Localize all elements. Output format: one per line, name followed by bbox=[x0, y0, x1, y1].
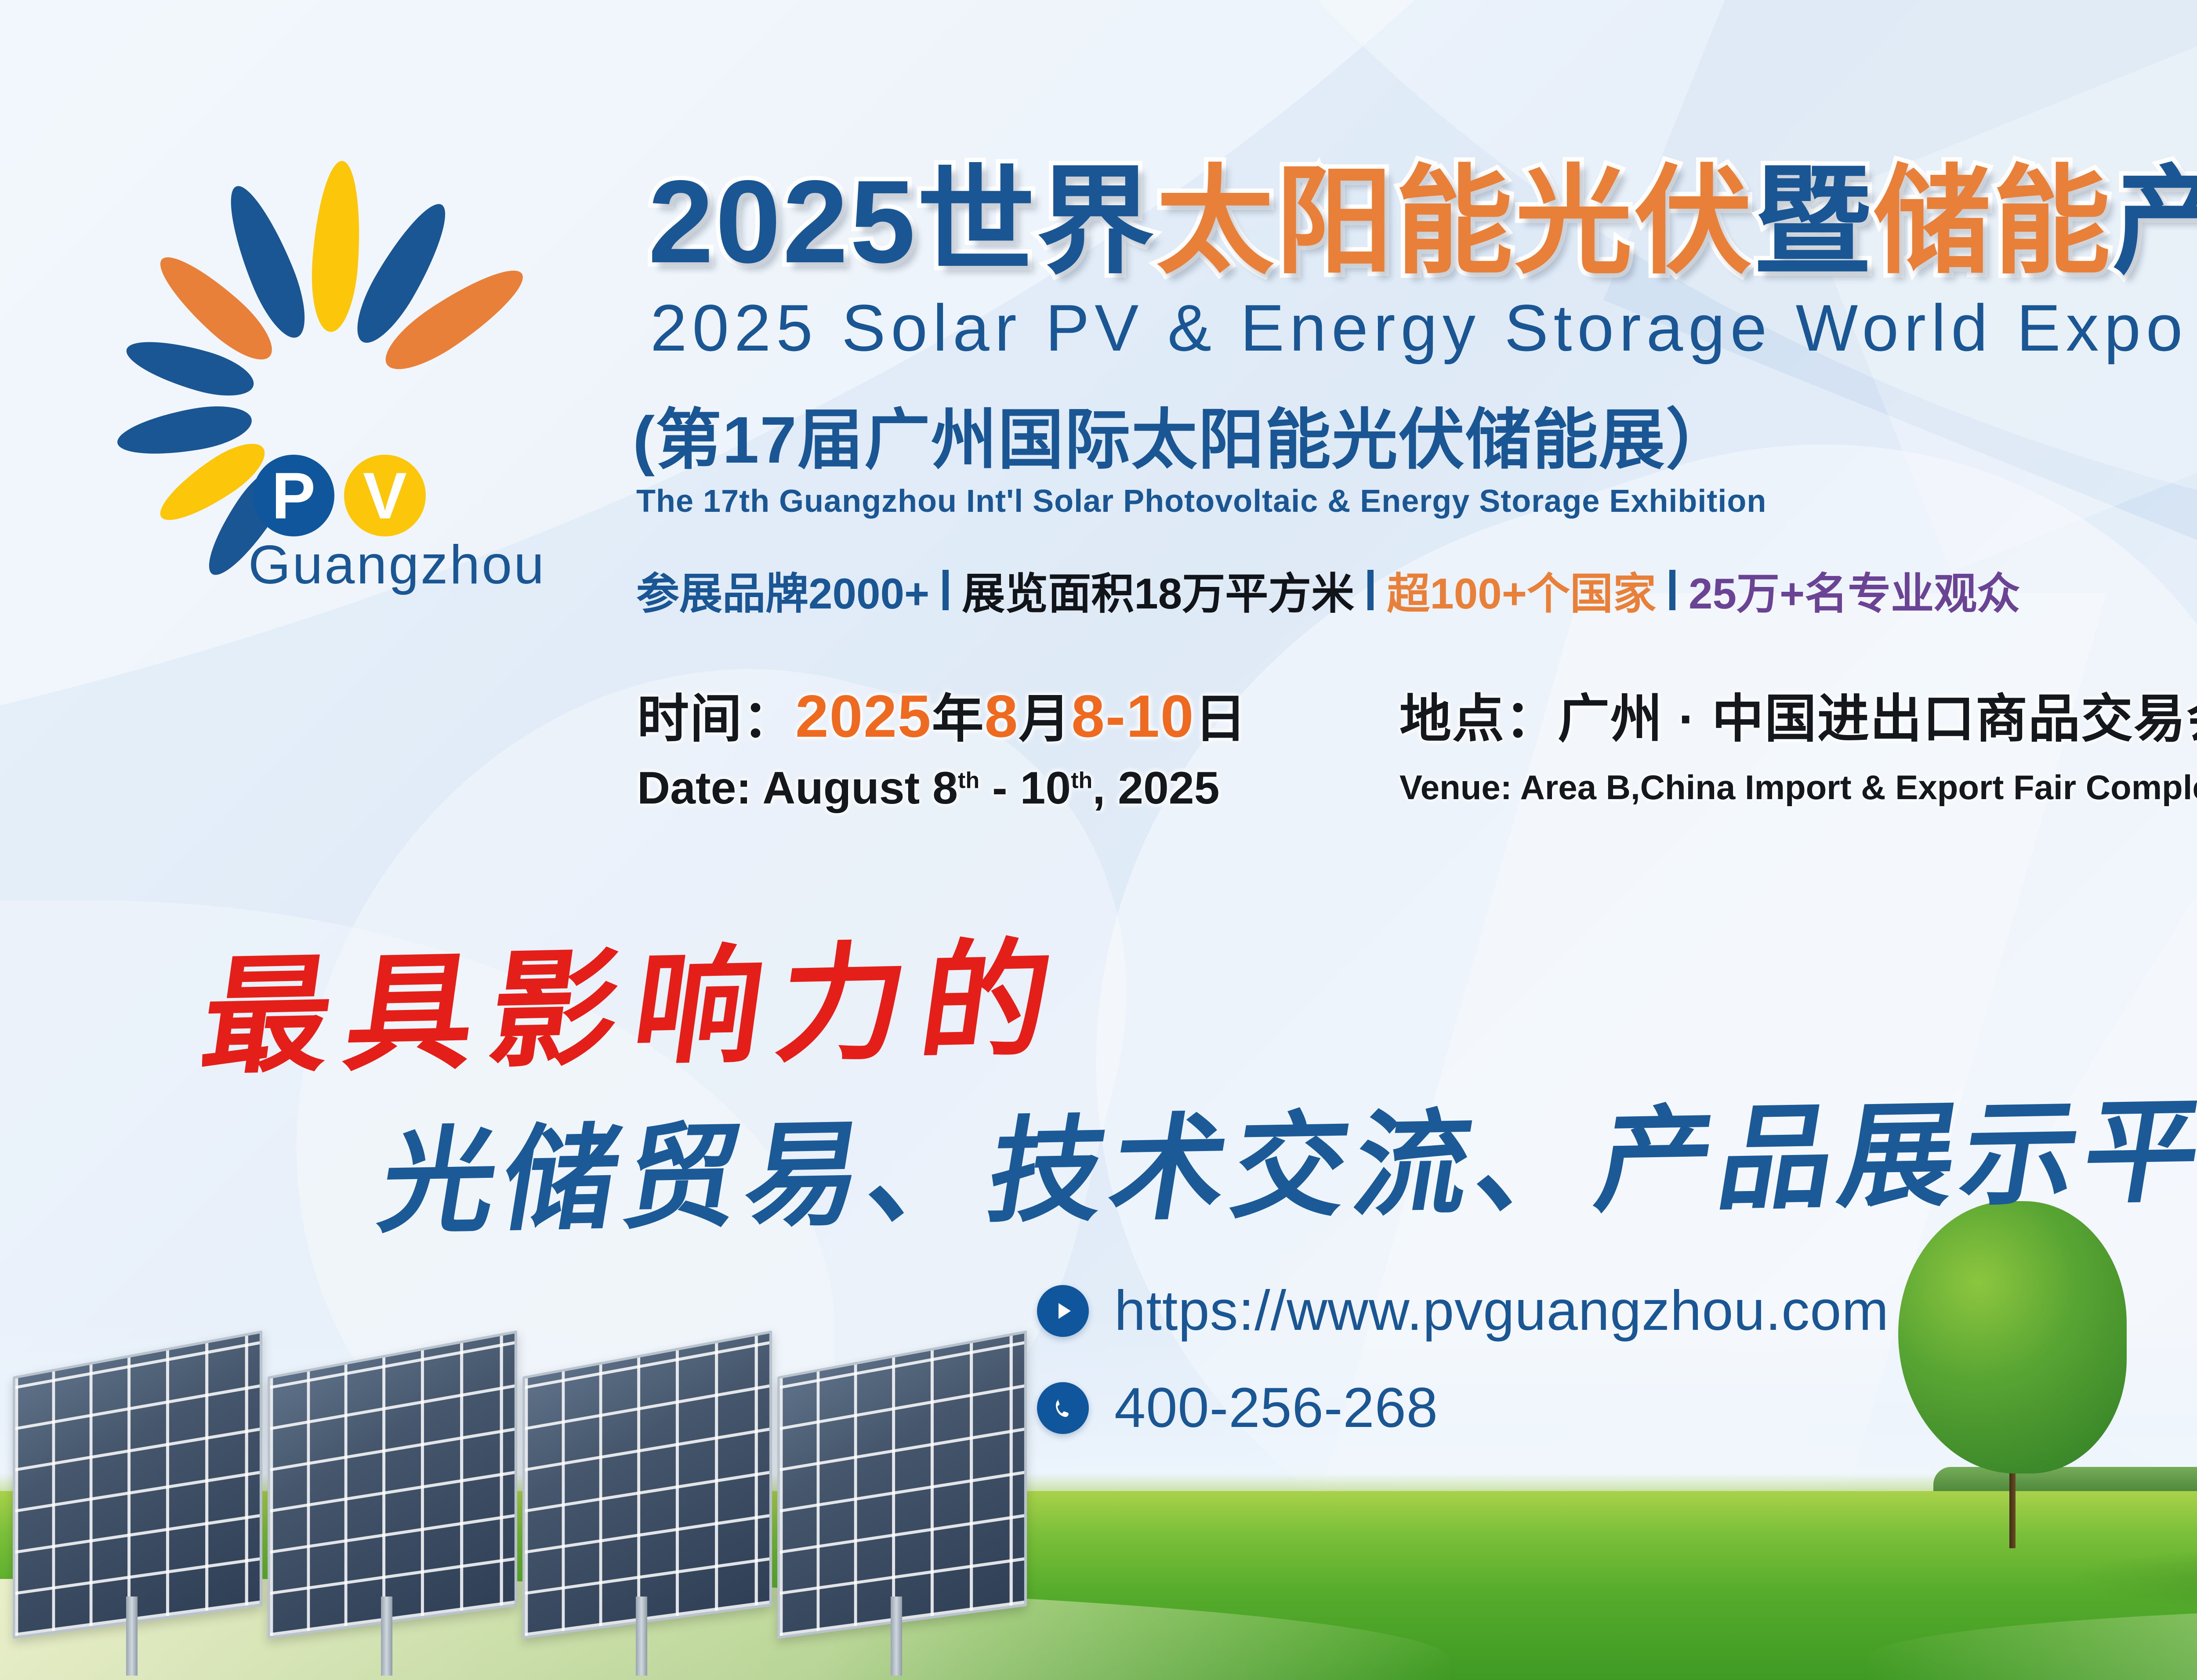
play-arrow-icon bbox=[1037, 1285, 1089, 1337]
tree-crown bbox=[1898, 1201, 2127, 1474]
solar-panel-leg bbox=[891, 1597, 902, 1676]
slogan-line-1: 最具影响力的 bbox=[192, 896, 1080, 1099]
title-segment: 产业博览会 bbox=[2112, 156, 2197, 287]
stats-item: 超100+个国家 bbox=[1387, 559, 1656, 621]
pv-guangzhou-logo: P V Guangzhou bbox=[42, 169, 609, 644]
solar-panel bbox=[522, 1330, 772, 1639]
stats-item: 参展品牌2000+ bbox=[636, 559, 929, 621]
phone-text[interactable]: 400-256-268 bbox=[1114, 1376, 1438, 1440]
venue-block: 地点：广州 · 中国进出口商品交易会展馆B区 Venue: Area B,Chi… bbox=[1399, 677, 2197, 807]
logo-letter-v: V bbox=[344, 455, 426, 536]
title-english: 2025 Solar PV & Energy Storage World Exp… bbox=[650, 290, 2188, 366]
stats-separator bbox=[1367, 570, 1374, 610]
stats-separator bbox=[1669, 570, 1675, 610]
date-label-cn: 时间： bbox=[637, 690, 795, 748]
date-line-cn: 时间：2025年8月8-10日 bbox=[637, 677, 1247, 752]
stats-separator bbox=[943, 570, 949, 610]
date-unit-month: 月 bbox=[1019, 690, 1071, 748]
title-segment: 暨 bbox=[1754, 156, 1873, 287]
date-month-cn: 8 bbox=[985, 683, 1019, 749]
contact-block: https://www.pvguangzhou.com 400-256-268 bbox=[1037, 1278, 1889, 1473]
banner-root: P V Guangzhou 2025世界太阳能光伏暨储能产业博览会 2025 S… bbox=[0, 0, 2197, 1680]
logo-city-label: Guangzhou bbox=[248, 534, 546, 596]
venue-line-cn: 地点：广州 · 中国进出口商品交易会展馆B区 bbox=[1399, 677, 2197, 752]
website-row[interactable]: https://www.pvguangzhou.com bbox=[1037, 1278, 1889, 1343]
date-sup-first: th bbox=[958, 768, 979, 793]
logo-letter-p: P bbox=[253, 455, 334, 536]
date-day-second: 10 bbox=[1020, 763, 1071, 814]
phone-icon bbox=[1037, 1382, 1089, 1434]
date-year-en: , 2025 bbox=[1092, 763, 1219, 814]
phone-row[interactable]: 400-256-268 bbox=[1037, 1376, 1889, 1440]
solar-panel bbox=[268, 1330, 517, 1639]
date-block: 时间：2025年8月8-10日 Date: August 8th - 10th,… bbox=[637, 677, 1247, 815]
title-subtitle-en: The 17th Guangzhou Int'l Solar Photovolt… bbox=[636, 483, 1766, 519]
stats-row: 参展品牌2000+展览面积18万平方米超100+个国家25万+名专业观众 bbox=[636, 559, 2020, 621]
tree bbox=[1898, 1175, 2127, 1548]
stats-item: 展览面积18万平方米 bbox=[962, 559, 1354, 621]
date-dash: - bbox=[992, 763, 1008, 814]
date-label-en: Date: August bbox=[637, 763, 920, 814]
solar-panel-leg bbox=[126, 1597, 138, 1676]
date-unit-year: 年 bbox=[932, 690, 985, 748]
title-segment: 2025世界 bbox=[648, 156, 1156, 287]
date-unit-day: 日 bbox=[1194, 690, 1247, 748]
date-line-en: Date: August 8th - 10th, 2025 bbox=[637, 762, 1247, 815]
solar-panel-leg bbox=[381, 1597, 392, 1676]
date-days-cn: 8-10 bbox=[1071, 683, 1194, 749]
title-subtitle-cn: (第17届广州国际太阳能光伏储能展） bbox=[633, 387, 1733, 482]
solar-panel-leg bbox=[636, 1597, 647, 1676]
page-title: 2025世界太阳能光伏暨储能产业博览会 bbox=[648, 163, 2197, 280]
website-text[interactable]: https://www.pvguangzhou.com bbox=[1114, 1278, 1889, 1343]
field-shadow bbox=[2065, 1544, 2197, 1614]
venue-line-en: Venue: Area B,China Import & Export Fair… bbox=[1399, 768, 2197, 807]
title-segment: 储能 bbox=[1873, 156, 2112, 287]
solar-panel bbox=[777, 1330, 1027, 1639]
solar-panel bbox=[13, 1330, 262, 1639]
date-sup-second: th bbox=[1071, 768, 1092, 793]
date-day-first: 8 bbox=[932, 763, 958, 814]
title-segment: 太阳能光伏 bbox=[1156, 156, 1754, 287]
logo-pv-circles: P V bbox=[253, 455, 426, 536]
date-year-cn: 2025 bbox=[795, 683, 932, 749]
stats-item: 25万+名专业观众 bbox=[1689, 559, 2020, 621]
solar-panel-array bbox=[0, 1333, 993, 1676]
